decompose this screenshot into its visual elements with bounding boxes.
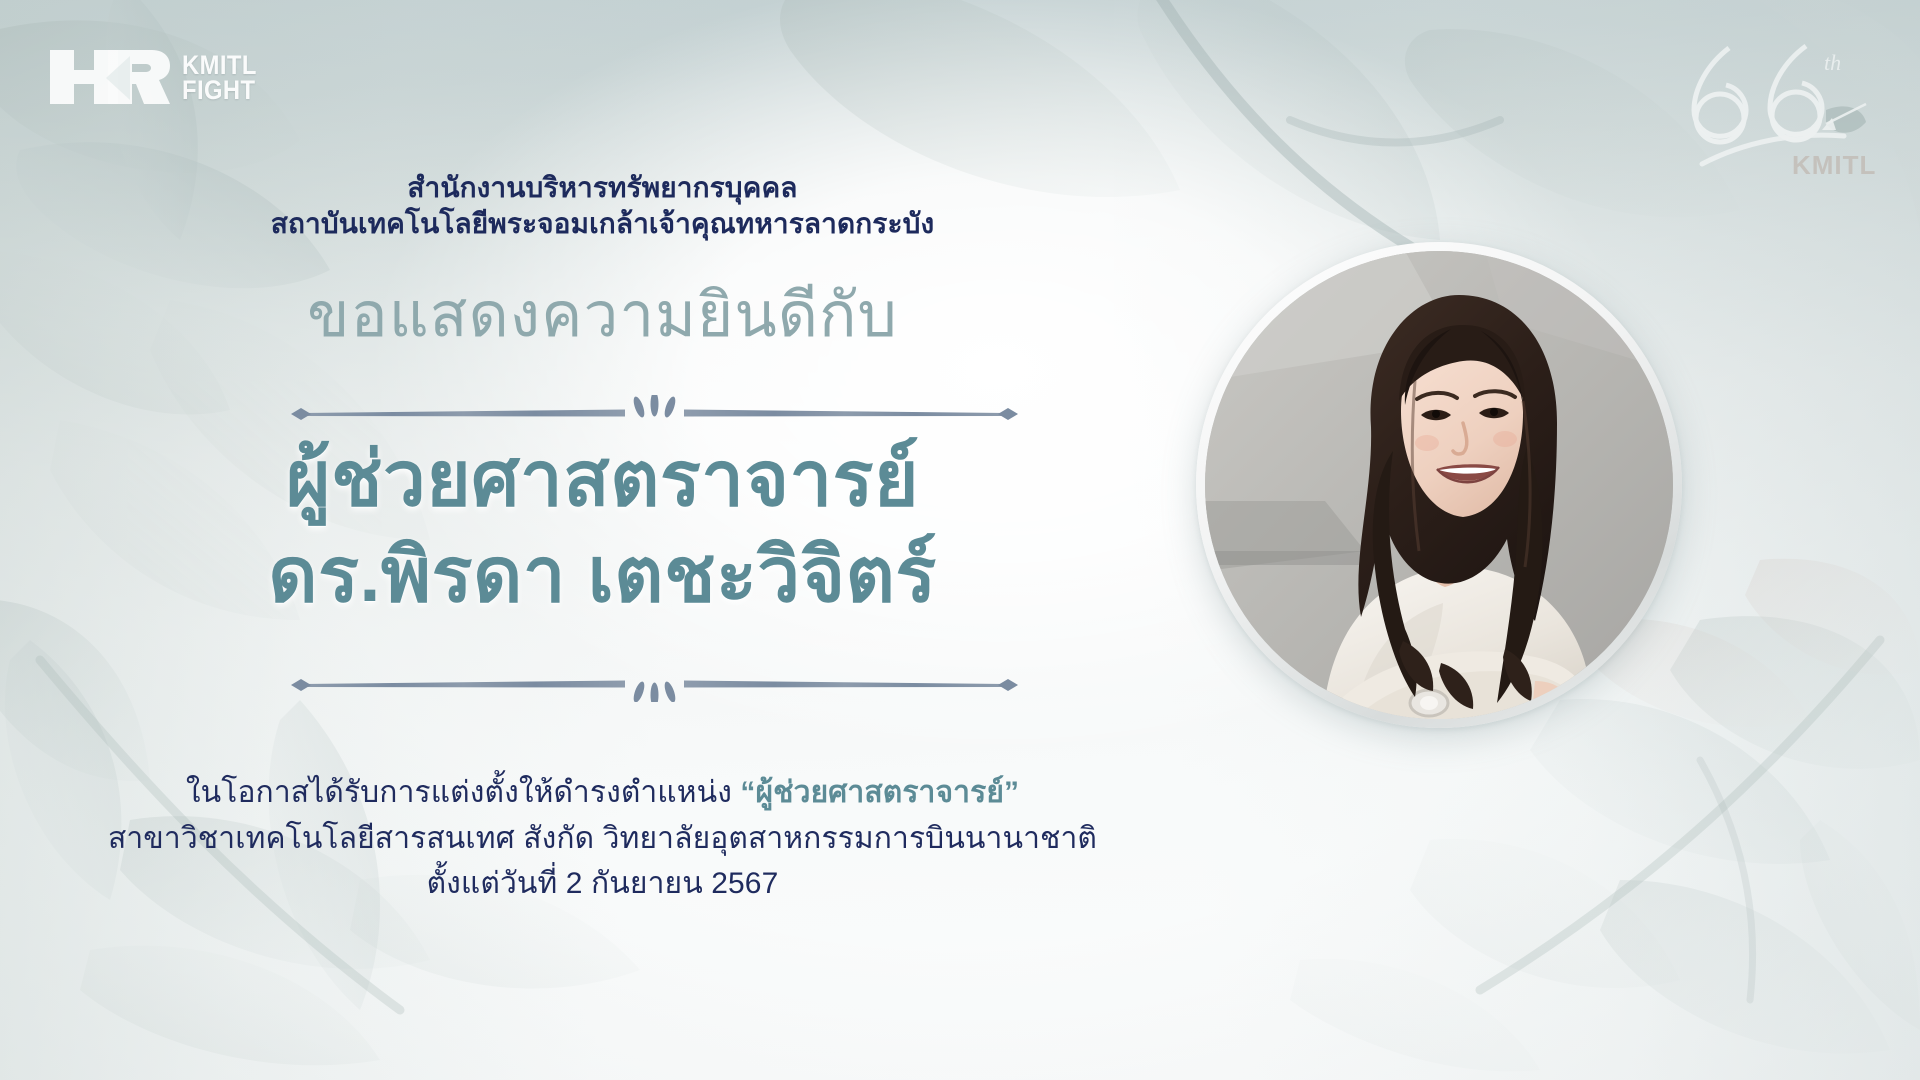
portrait-photo [1205, 251, 1673, 719]
honoree-photo-illustration [1205, 251, 1673, 719]
details-line-1: ในโอกาสได้รับการแต่งตั้งให้ดำรงตำแหน่ง “… [0, 770, 1205, 816]
divider-petal-ornament [631, 680, 677, 702]
honoree-name: ดร.พิรดา เตชะวิจิตร์ [0, 528, 1205, 624]
honoree-name-block: ผู้ช่วยศาสตราจารย์ ดร.พิรดา เตชะวิจิตร์ [0, 432, 1205, 624]
organization-line-2: สถาบันเทคโนโลยีพระจอมเกล้าเจ้าคุณทหารลาด… [0, 206, 1205, 242]
organization-heading: สำนักงานบริหารทรัพยากรบุคคล สถาบันเทคโนโ… [0, 170, 1205, 242]
details-line-2: สาขาวิชาเทคโนโลยีสารสนเทศ สังกัด วิทยาลั… [0, 816, 1205, 862]
appointment-details: ในโอกาสได้รับการแต่งตั้งให้ดำรงตำแหน่ง “… [0, 770, 1205, 907]
organization-line-1: สำนักงานบริหารทรัพยากรบุคคล [0, 170, 1205, 206]
details-line-1-position: “ผู้ช่วยศาสตราจารย์” [740, 776, 1019, 809]
greeting-text: ขอแสดงความยินดีกับ [0, 282, 1205, 350]
details-line-1-prefix: ในโอกาสได้รับการแต่งตั้งให้ดำรงตำแหน่ง [186, 776, 732, 809]
honoree-title: ผู้ช่วยศาสตราจารย์ [0, 432, 1205, 528]
anniversary-66th-logo: th KMITL [1666, 26, 1876, 176]
details-line-3: ตั้งแต่วันที่ 2 กันยายน 2567 [0, 861, 1205, 907]
svg-text:KMITL: KMITL [1792, 150, 1876, 176]
anniversary-leaf-icon [1822, 104, 1866, 133]
divider-top [289, 395, 1020, 429]
divider-petal-ornament [631, 395, 677, 419]
svg-text:th: th [1824, 50, 1841, 75]
divider-bottom [289, 668, 1020, 702]
content-column: สำนักงานบริหารทรัพยากรบุคคล สถาบันเทคโนโ… [0, 0, 1205, 1080]
portrait-frame [1196, 242, 1682, 728]
congratulation-card: KMITL FIGHT th K [0, 0, 1920, 1080]
